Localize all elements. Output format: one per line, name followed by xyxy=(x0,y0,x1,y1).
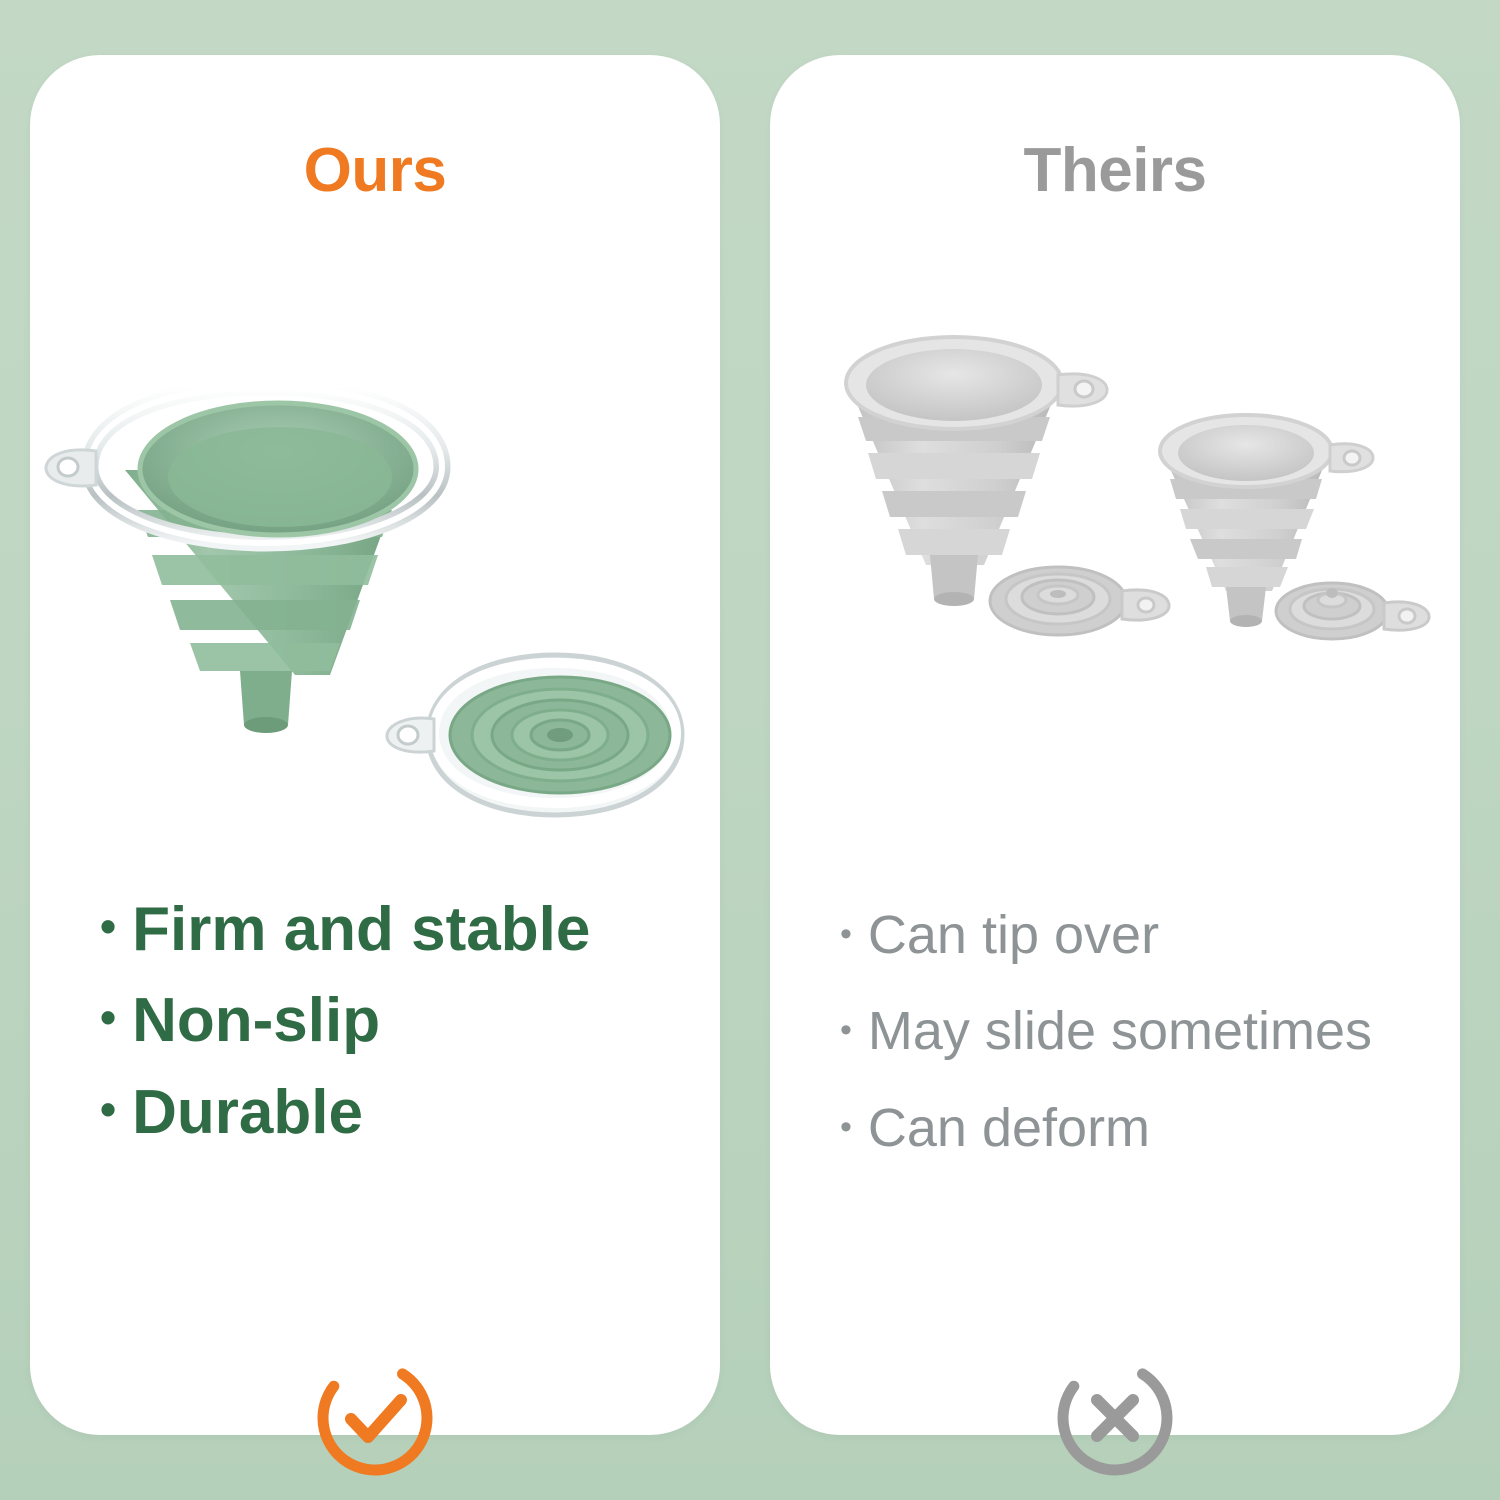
bullet-item: • May slide sometimes xyxy=(840,1001,1420,1061)
small-funnel-collapsed-gray-a xyxy=(990,567,1169,635)
gray-funnels-illustration xyxy=(770,255,1460,875)
bullet-list-theirs: • Can tip over • May slide sometimes • C… xyxy=(840,905,1420,1194)
bullet-item: • Non-slip xyxy=(100,986,680,1055)
bullet-item: • Can tip over xyxy=(840,905,1420,965)
bullet-dot-icon: • xyxy=(100,903,116,949)
bullet-label: Can deform xyxy=(868,1098,1150,1158)
product-image-ours xyxy=(30,255,720,875)
bullet-label: Firm and stable xyxy=(132,895,590,964)
bullet-dot-icon: • xyxy=(100,994,116,1040)
bullet-dot-icon: • xyxy=(840,1013,852,1047)
panel-title-ours: Ours xyxy=(30,135,720,206)
bullet-item: • Durable xyxy=(100,1078,680,1147)
check-badge-icon xyxy=(315,1358,435,1478)
small-funnel-collapsed-gray-b xyxy=(1276,583,1429,639)
bullet-dot-icon: • xyxy=(840,917,852,951)
bullet-label: Can tip over xyxy=(868,905,1159,965)
comparison-graphic: Ours xyxy=(0,0,1500,1500)
bullet-item: • Firm and stable xyxy=(100,895,680,964)
bullet-label: May slide sometimes xyxy=(868,1001,1372,1061)
large-funnel-expanded-green xyxy=(46,387,442,733)
bullet-dot-icon: • xyxy=(840,1110,852,1144)
bullet-label: Durable xyxy=(132,1078,363,1147)
bullet-label: Non-slip xyxy=(132,986,380,1055)
green-funnels-illustration xyxy=(30,255,720,875)
panel-theirs: Theirs xyxy=(770,55,1460,1435)
bullet-dot-icon: • xyxy=(100,1086,116,1132)
cross-badge-icon xyxy=(1055,1358,1175,1478)
bullet-item: • Can deform xyxy=(840,1098,1420,1158)
product-image-theirs xyxy=(770,255,1460,875)
panel-title-theirs: Theirs xyxy=(770,135,1460,206)
small-funnel-collapsed-green xyxy=(387,655,682,815)
panel-ours: Ours xyxy=(30,55,720,1435)
large-funnel-expanded-gray xyxy=(846,337,1107,606)
bullet-list-ours: • Firm and stable • Non-slip • Durable xyxy=(100,895,680,1169)
